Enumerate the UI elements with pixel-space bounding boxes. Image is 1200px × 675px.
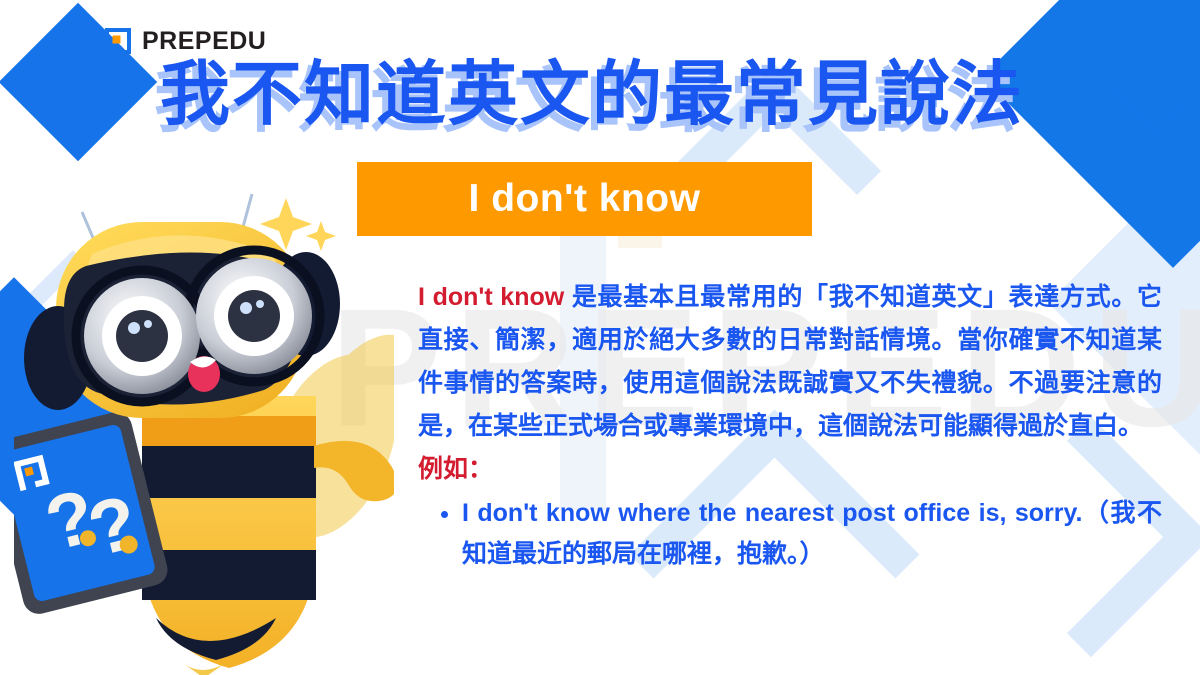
example-list: I don't know where the nearest post offi… xyxy=(462,493,1162,574)
body-copy: I don't know 是最基本且最常用的「我不知道英文」表達方式。它直接、簡… xyxy=(418,276,1162,574)
slide-canvas: PREPEDU PREPEDU 我不知道英文的最常見說法 I don't kno… xyxy=(0,0,1200,675)
prepedu-bee-mascot: ? ? xyxy=(14,178,394,675)
page-title: 我不知道英文的最常見說法 xyxy=(160,52,1040,137)
phrase-banner: I don't know xyxy=(357,162,812,236)
list-item: I don't know where the nearest post offi… xyxy=(462,493,1162,574)
body-paragraph: I don't know 是最基本且最常用的「我不知道英文」表達方式。它直接、簡… xyxy=(418,276,1162,448)
prepedu-bracket-mark-icon xyxy=(103,26,133,56)
example-label: 例如： xyxy=(418,448,1162,491)
phrase-banner-text: I don't know xyxy=(469,177,701,221)
bee-head xyxy=(24,222,340,418)
decor-triangle-top-right xyxy=(1112,88,1196,132)
body-lead-highlight: I don't know xyxy=(418,283,564,311)
bee-abdomen xyxy=(142,396,316,675)
